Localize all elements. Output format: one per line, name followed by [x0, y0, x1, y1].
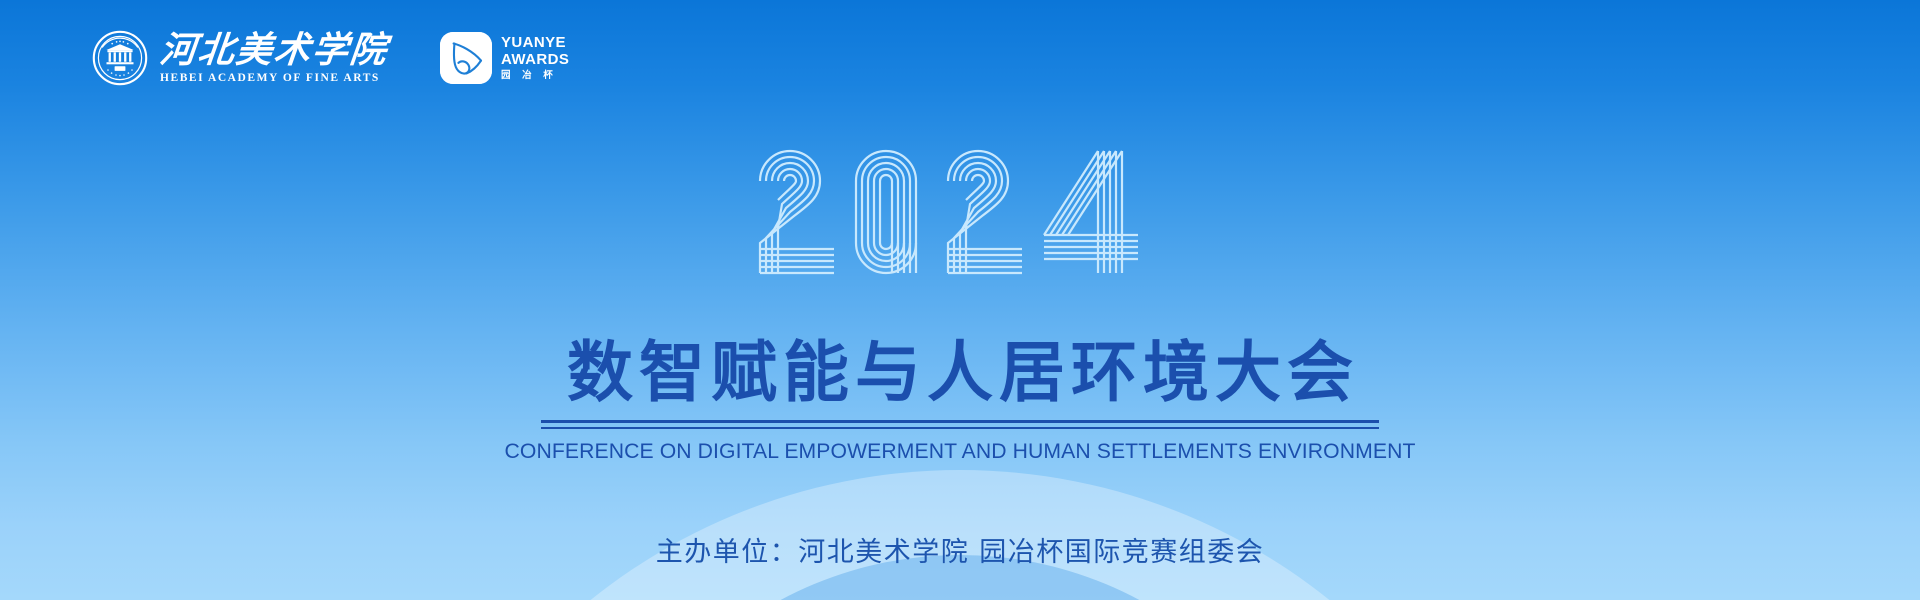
digit-2-first — [760, 151, 834, 273]
yuanye-line-1: YUANYE — [501, 35, 569, 50]
yuanye-awards-logo: YUANYE AWARDS 园 冶 杯 — [440, 32, 569, 84]
page-title-en: CONFERENCE ON DIGITAL EMPOWERMENT AND HU… — [14, 439, 1905, 464]
conference-banner: 河北美术学院 HEBEI ACADEMY OF FINE ARTS YUANYE… — [0, 0, 1920, 600]
digit-2-second — [948, 151, 1022, 273]
hebei-academy-logo: 河北美术学院 HEBEI ACADEMY OF FINE ARTS — [92, 30, 388, 86]
year-2024-graphic — [0, 128, 1920, 298]
digit-4 — [1044, 151, 1138, 273]
yuanye-line-3-cn: 园 冶 杯 — [501, 71, 569, 81]
year-2024-svg — [750, 133, 1170, 293]
organizer-line: 主办单位：河北美术学院 园冶杯国际竞赛组委会 — [0, 530, 1920, 569]
yuanye-leaf-mark-icon — [440, 32, 492, 84]
digit-0 — [856, 151, 916, 273]
logo-row: 河北美术学院 HEBEI ACADEMY OF FINE ARTS YUANYE… — [92, 30, 569, 86]
hebei-academy-wordmark: 河北美术学院 HEBEI ACADEMY OF FINE ARTS — [160, 32, 388, 85]
title-divider-thin — [541, 427, 1379, 429]
title-divider-thick — [541, 420, 1379, 423]
hebei-academy-name-cn: 河北美术学院 — [158, 32, 390, 68]
hebei-academy-name-en: HEBEI ACADEMY OF FINE ARTS — [160, 73, 388, 85]
page-title-cn: 数智赋能与人居环境大会 — [0, 338, 1920, 408]
yuanye-awards-wordmark: YUANYE AWARDS 园 冶 杯 — [501, 35, 569, 81]
headline-block: 数智赋能与人居环境大会 CONFERENCE ON DIGITAL EMPOWE… — [0, 338, 1920, 464]
title-divider — [541, 420, 1379, 429]
yuanye-line-2: AWARDS — [501, 52, 569, 67]
university-seal-icon — [92, 30, 148, 86]
